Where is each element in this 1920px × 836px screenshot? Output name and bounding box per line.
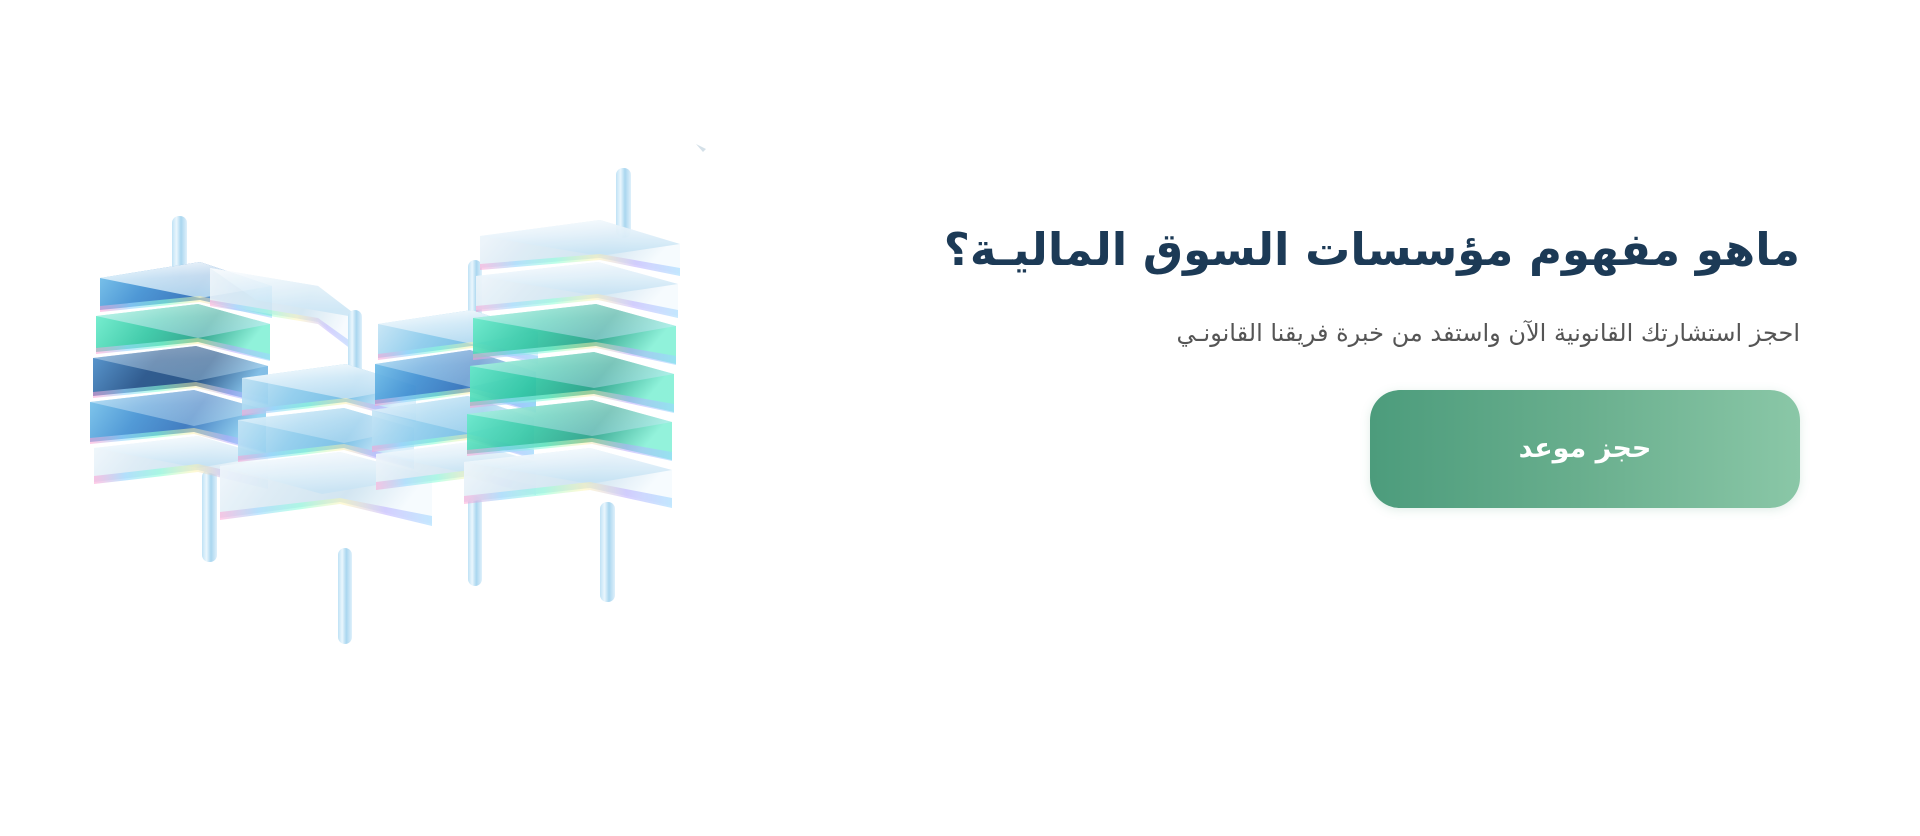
- hero-subtitle: احجز استشارتك القانونية الآن واستفد من خ…: [860, 315, 1800, 352]
- hero-content: ماهو مفهوم مؤسسات السوق الماليـة؟ احجز ا…: [860, 220, 1800, 508]
- page-title: ماهو مفهوم مؤسسات السوق الماليـة؟: [860, 220, 1800, 281]
- cta-wrapper: حجز موعد: [860, 390, 1800, 508]
- hero-banner: ماهو مفهوم مؤسسات السوق الماليـة؟ احجز ا…: [0, 0, 1920, 836]
- sparkle-speck: [696, 144, 706, 152]
- glass-stacked-discs-3d-illustration: [60, 110, 760, 670]
- book-appointment-button[interactable]: حجز موعد: [1370, 390, 1800, 508]
- glass-stack-4: [464, 168, 680, 602]
